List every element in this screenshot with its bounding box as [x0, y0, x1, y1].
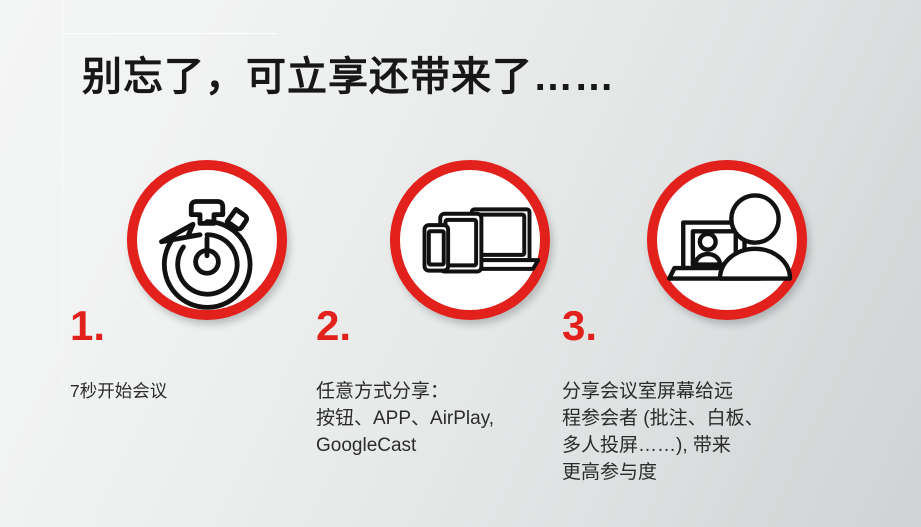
step-3-number: 3.	[562, 305, 802, 349]
step-3-icon-badge	[647, 160, 807, 320]
step-3-text-line-3: 多人投屏……), 带来	[562, 433, 802, 460]
step-3-column: 3. 分享会议室屏幕给远 程参会者 (批注、白板、 多人投屏……), 带来 更高…	[562, 305, 802, 487]
multi-device-icon	[400, 170, 540, 310]
step-2-text-line-3: GoogleCast	[316, 433, 551, 460]
step-1-icon-badge	[127, 160, 287, 320]
step-2-text-line-1: 任意方式分享：	[316, 379, 551, 406]
panel-edge-decoration-horizontal	[62, 33, 277, 34]
step-1-column: 1. 7秒开始会议	[70, 305, 300, 404]
step-2-text-line-2: 按钮、APP、AirPlay,	[316, 406, 551, 433]
step-2-column: 2. 任意方式分享： 按钮、APP、AirPlay, GoogleCast	[316, 305, 551, 460]
step-3-text-line-1: 分享会议室屏幕给远	[562, 379, 802, 406]
page-title: 别忘了，可立享还带来了……	[82, 54, 615, 100]
video-conference-icon	[657, 170, 797, 310]
step-3-text-line-4: 更高参与度	[562, 460, 802, 487]
slide-canvas: 别忘了，可立享还带来了……	[0, 0, 921, 527]
step-1-text-line-1: 7秒开始会议	[70, 379, 300, 404]
step-2-number: 2.	[316, 305, 551, 349]
step-1-number: 1.	[70, 305, 300, 349]
step-1-text: 7秒开始会议	[70, 379, 300, 404]
step-3-text-line-2: 程参会者 (批注、白板、	[562, 406, 802, 433]
step-2-text: 任意方式分享： 按钮、APP、AirPlay, GoogleCast	[316, 379, 551, 460]
step-3-text: 分享会议室屏幕给远 程参会者 (批注、白板、 多人投屏……), 带来 更高参与度	[562, 379, 802, 487]
step-2-icon-badge	[390, 160, 550, 320]
stopwatch-refresh-icon	[137, 170, 277, 310]
panel-edge-decoration	[62, 0, 63, 527]
